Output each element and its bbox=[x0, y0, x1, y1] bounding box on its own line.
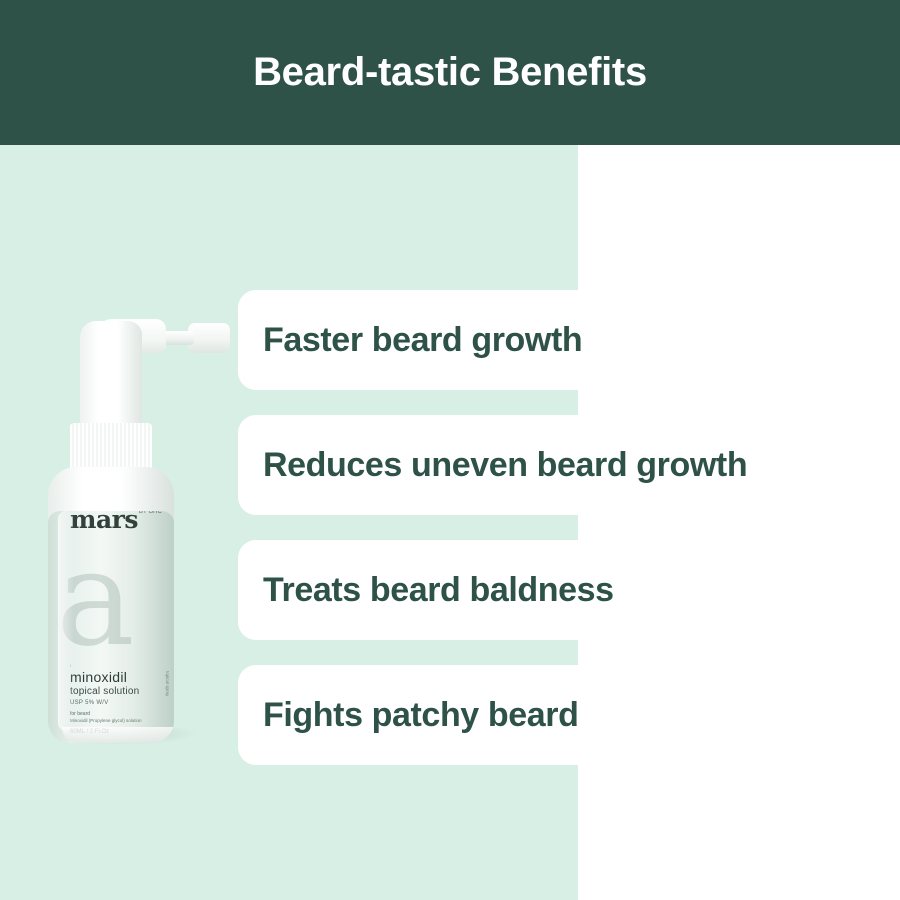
product-image-bottle: a mars BY GHC \ minoxidil topical soluti… bbox=[40, 305, 230, 750]
label-usage: for beard bbox=[70, 711, 168, 717]
product-label: \ minoxidil topical solution USP 5% W/V … bbox=[70, 663, 168, 735]
benefit-card: Fights patchy beard bbox=[238, 665, 900, 765]
pump-head bbox=[80, 321, 142, 429]
label-strength: USP 5% W/V bbox=[70, 700, 168, 706]
bottle-gloss-highlight bbox=[58, 511, 74, 731]
page-header: Beard-tastic Benefits bbox=[0, 0, 900, 145]
benefit-label: Reduces uneven beard growth bbox=[263, 446, 747, 485]
benefit-card: Treats beard baldness bbox=[238, 540, 900, 640]
spray-nozzle-tip-icon bbox=[188, 323, 230, 353]
label-tick-mark: \ bbox=[70, 663, 168, 668]
brand-logo: mars BY GHC bbox=[70, 511, 162, 534]
benefit-label: Treats beard baldness bbox=[263, 571, 614, 610]
label-product-name: minoxidil bbox=[70, 669, 168, 685]
benefit-label: Faster beard growth bbox=[263, 321, 582, 360]
brand-name: mars bbox=[70, 511, 138, 534]
page-title: Beard-tastic Benefits bbox=[253, 50, 647, 95]
benefits-list: Faster beard growth Reduces uneven beard… bbox=[238, 290, 900, 790]
label-product-form: topical solution bbox=[70, 686, 168, 697]
label-side-text: topical spray bbox=[165, 671, 170, 696]
label-description: Minoxidil (Propylene glycol) solution bbox=[70, 718, 168, 723]
brand-trademark-mark: BY GHC bbox=[139, 511, 162, 516]
benefit-card: Reduces uneven beard growth bbox=[238, 415, 900, 515]
benefit-label: Fights patchy beard bbox=[263, 696, 578, 735]
bottle-base bbox=[62, 727, 174, 743]
benefit-card: Faster beard growth bbox=[238, 290, 900, 390]
